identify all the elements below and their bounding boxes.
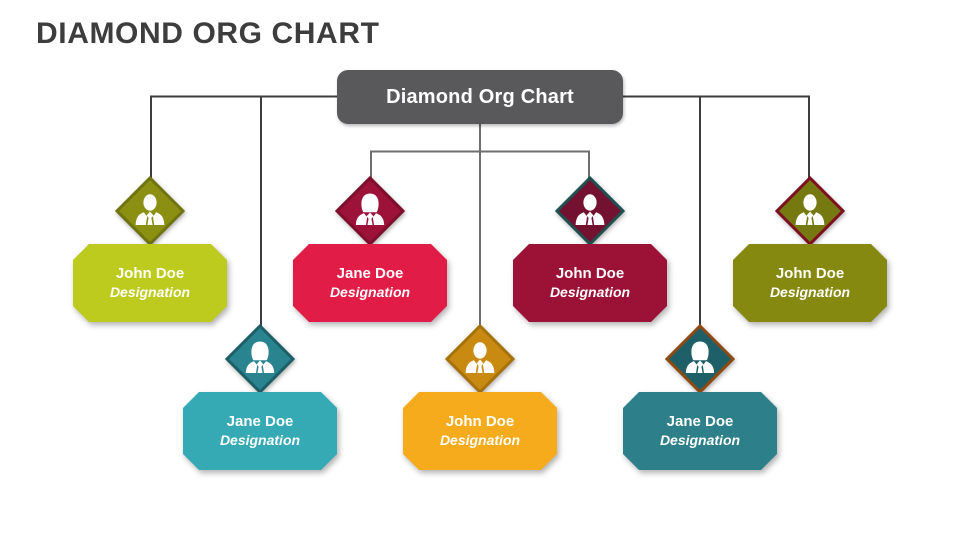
diamond-badge-3[interactable] (555, 176, 625, 246)
person-name: John Doe (556, 266, 624, 283)
person-name: John Doe (776, 266, 844, 283)
diamond-badge-5[interactable] (225, 324, 295, 394)
person-card-6[interactable]: John DoeDesignation (403, 392, 557, 470)
person-card-3[interactable]: John DoeDesignation (513, 244, 667, 322)
root-node-label: Diamond Org Chart (386, 86, 574, 109)
org-chart-canvas: DIAMOND ORG CHART Diamond Org Chart John… (0, 0, 960, 540)
person-name: John Doe (446, 414, 514, 431)
person-designation: Designation (110, 285, 190, 300)
person-name: Jane Doe (667, 414, 734, 431)
diamond-badge-7[interactable] (665, 324, 735, 394)
person-designation: Designation (770, 285, 850, 300)
diamond-badge-2[interactable] (335, 176, 405, 246)
person-card-4[interactable]: John DoeDesignation (733, 244, 887, 322)
person-name: Jane Doe (337, 266, 404, 283)
person-card-5[interactable]: Jane DoeDesignation (183, 392, 337, 470)
person-designation: Designation (440, 433, 520, 448)
person-name: John Doe (116, 266, 184, 283)
person-designation: Designation (220, 433, 300, 448)
person-designation: Designation (660, 433, 740, 448)
person-designation: Designation (550, 285, 630, 300)
person-name: Jane Doe (227, 414, 294, 431)
person-designation: Designation (330, 285, 410, 300)
diamond-badge-4[interactable] (775, 176, 845, 246)
diamond-badge-1[interactable] (115, 176, 185, 246)
person-card-7[interactable]: Jane DoeDesignation (623, 392, 777, 470)
root-node[interactable]: Diamond Org Chart (337, 70, 623, 124)
diamond-badge-6[interactable] (445, 324, 515, 394)
person-card-2[interactable]: Jane DoeDesignation (293, 244, 447, 322)
person-card-1[interactable]: John DoeDesignation (73, 244, 227, 322)
